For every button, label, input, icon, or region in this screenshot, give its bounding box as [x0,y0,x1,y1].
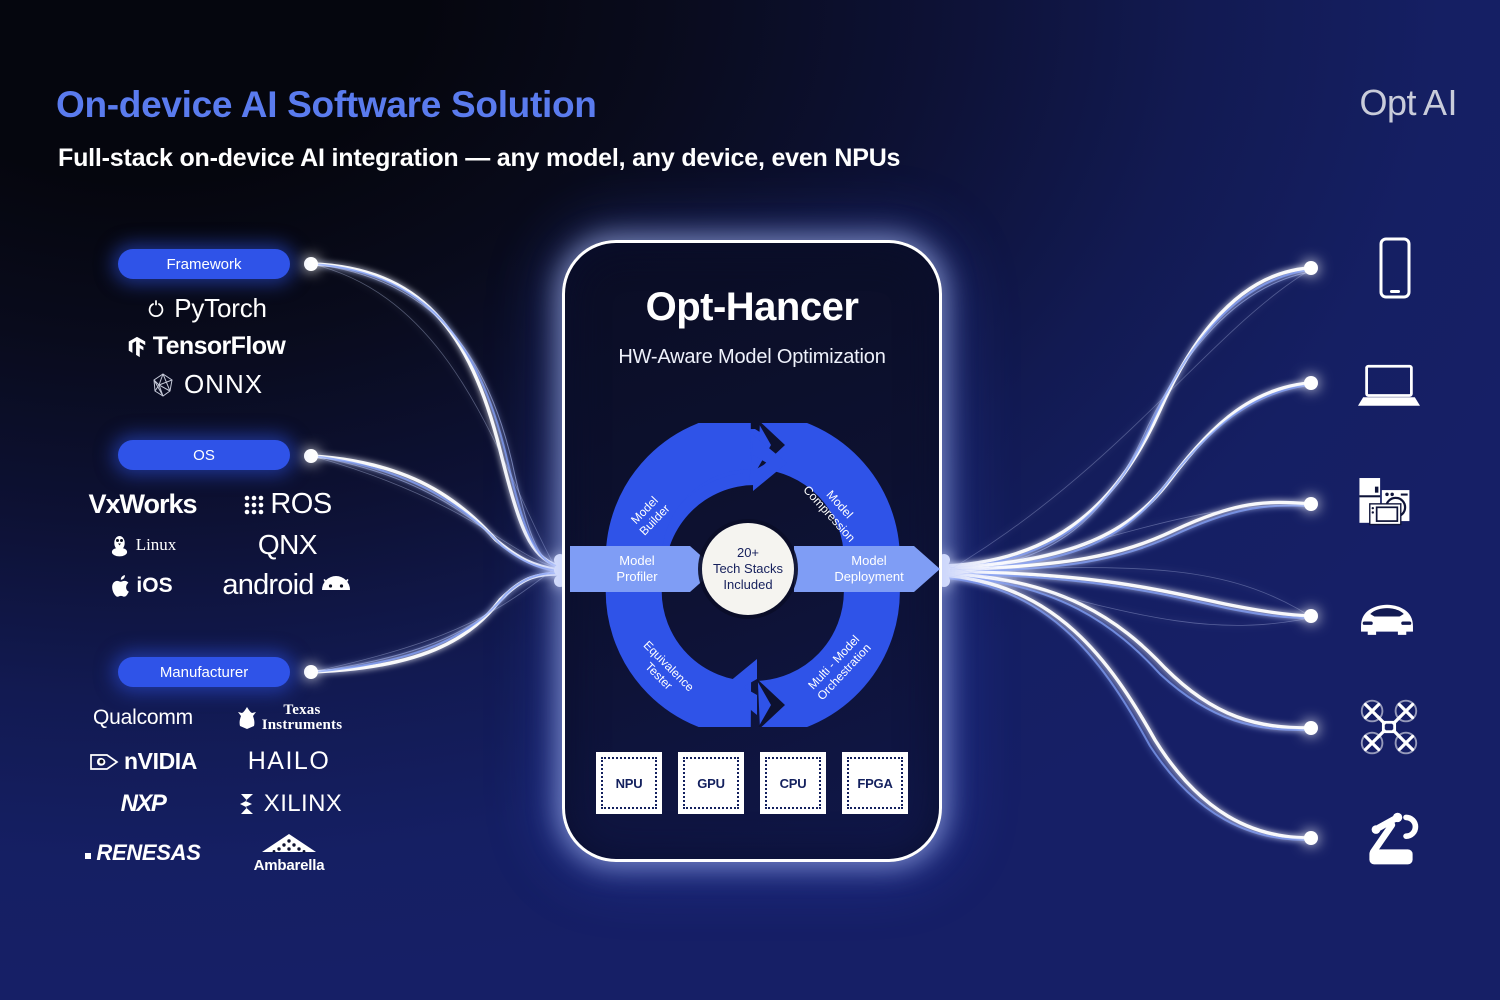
onnx-icon [149,371,177,399]
chip-cpu[interactable]: CPU [760,752,826,814]
arrow-left-line1: Model [616,553,657,569]
arrow-right-line2: Deployment [834,569,903,585]
flow-node-car [1304,609,1318,623]
flow-node-robot [1304,831,1318,845]
chip-cpu-label: CPU [780,776,807,791]
logo-xilinx: XILINX [216,790,362,818]
apple-icon [112,574,132,598]
logo-hailo: HAILO [216,747,362,776]
flow-node-drone [1304,721,1318,735]
hub-line3: Included [723,577,772,593]
logo-android: android [215,569,360,602]
drone-icon [1358,696,1420,758]
logo-linux: Linux [70,529,215,561]
logo-onnx-label: ONNX [184,369,263,400]
home-appliances-icon [1356,472,1418,534]
chip-gpu[interactable]: GPU [678,752,744,814]
logo-tensorflow: TensorFlow [118,332,294,361]
texas-instruments-icon [236,706,258,730]
logo-xilinx-label: XILINX [264,790,342,818]
device-smartphone [1364,237,1426,299]
arrow-right-line1: Model [834,553,903,569]
chip-fpga-label: FPGA [857,776,892,791]
flow-node-os [304,449,318,463]
logo-linux-label: Linux [136,535,177,555]
pytorch-icon [145,298,167,320]
flow-node-framework [304,257,318,271]
ros-icon [243,494,267,516]
logo-ios: iOS [70,569,215,602]
tensorflow-icon [127,336,147,358]
flow-node-appliances [1304,497,1318,511]
device-home-appliances [1356,472,1418,534]
chip-npu[interactable]: NPU [596,752,662,814]
android-robot-icon [319,575,353,597]
smartphone-icon [1375,237,1415,299]
tech-stacks-hub: 20+ Tech Stacks Included [702,523,794,615]
group-framework: Framework PyTorch TensorFlow [118,249,294,408]
logo-onnx: ONNX [118,369,294,400]
pill-manufacturer[interactable]: Manufacturer [118,657,290,687]
logo-pytorch: PyTorch [118,293,294,324]
logo-ros: ROS [215,488,360,521]
flow-node-manufacturer [304,665,318,679]
framework-logo-list: PyTorch TensorFlow ONNX [118,293,294,400]
arrow-left-line2: Profiler [616,569,657,585]
logo-nvidia-label: nVIDIA [124,748,197,775]
laptop-icon [1358,359,1420,413]
logo-qnx: QNX [215,529,360,561]
logo-renesas: RENESAS [70,832,216,874]
manufacturer-logo-list: Qualcomm Texas Instruments nVIDIA HAI [70,703,362,874]
arrow-label-model-deployment[interactable]: Model Deployment [810,545,928,593]
logo-ti-line1: Texas [262,703,343,718]
logo-nxp: NXP [70,790,216,818]
slide-root: On-device AI Software Solution Full-stac… [0,0,1500,1000]
group-manufacturer: Manufacturer Qualcomm Texas Instruments [118,657,294,687]
arrow-label-model-profiler[interactable]: Model Profiler [578,545,696,593]
hub-line2: Tech Stacks [713,561,783,577]
logo-qualcomm: Qualcomm [70,703,216,733]
device-drone [1358,696,1420,758]
device-robot-arm [1360,808,1422,870]
chip-row: NPU GPU CPU FPGA [596,752,908,814]
nvidia-eye-icon [89,751,119,773]
os-logo-list: VxWorks ROS [70,488,360,602]
group-os: OS VxWorks ROS [118,440,294,470]
logo-android-label: android [222,569,313,602]
chip-npu-label: NPU [616,776,643,791]
device-car [1356,588,1418,650]
flow-node-laptop [1304,376,1318,390]
pill-framework[interactable]: Framework [118,249,290,279]
card-title: Opt-Hancer [565,285,939,330]
logo-vxworks: VxWorks [70,488,215,521]
chip-gpu-label: GPU [697,776,725,791]
xilinx-icon [236,792,258,816]
pill-os[interactable]: OS [118,440,290,470]
flow-node-smartphone [1304,261,1318,275]
logo-ios-label: iOS [136,574,172,598]
robot-arm-icon [1360,810,1422,868]
logo-pytorch-label: PyTorch [174,293,267,324]
logo-ambarella: Ambarella [216,832,362,874]
logo-ambarella-label: Ambarella [254,857,325,874]
logo-ros-label: ROS [270,488,331,521]
hub-line1: 20+ [737,545,759,561]
chip-fpga[interactable]: FPGA [842,752,908,814]
logo-tensorflow-label: TensorFlow [153,332,285,361]
device-laptop [1358,355,1420,417]
logo-renesas-label: RENESAS [96,840,200,866]
linux-tux-icon [109,533,130,557]
logo-nvidia: nVIDIA [70,747,216,776]
renesas-dot-icon [85,853,93,861]
logo-texas-instruments: Texas Instruments [216,703,362,733]
logo-ti-text: Texas Instruments [262,703,343,733]
logo-ti-line2: Instruments [262,718,343,733]
car-icon [1356,594,1418,644]
card-subtitle: HW-Aware Model Optimization [565,346,939,369]
ambarella-icon [258,832,320,856]
